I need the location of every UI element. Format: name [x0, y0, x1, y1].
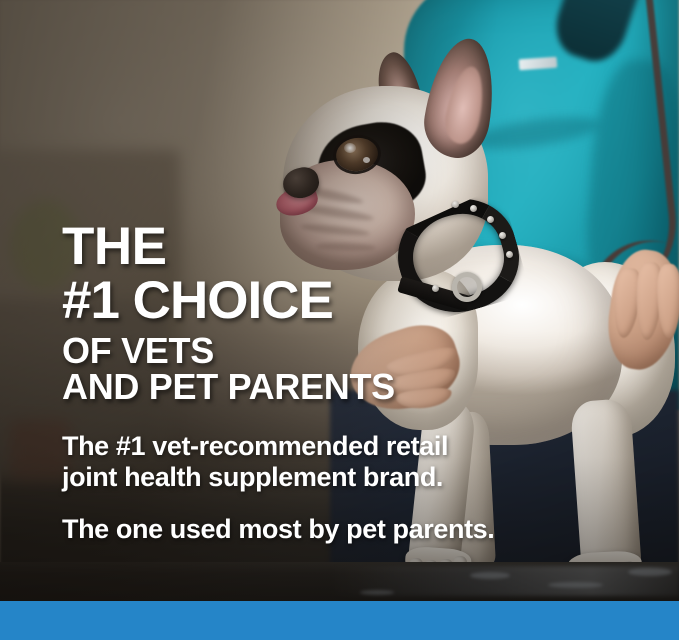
hero-photograph: THE #1 CHOICE OF VETS AND PET PARENTS Th… — [0, 0, 679, 601]
table-highlight — [360, 590, 394, 595]
headline-line-1: THE — [62, 222, 622, 273]
table-highlight — [628, 568, 672, 576]
subcopy-paragraph-2: The one used most by pet parents. — [62, 514, 622, 545]
dog-eye-highlight — [344, 143, 356, 153]
headline-line-4: AND PET PARENTS — [62, 370, 622, 405]
marketing-copy: THE #1 CHOICE OF VETS AND PET PARENTS Th… — [62, 222, 622, 545]
subcopy-line-1: The #1 vet-recommended retail — [62, 431, 622, 462]
promotional-banner: THE #1 CHOICE OF VETS AND PET PARENTS Th… — [0, 0, 679, 640]
bottom-brand-bar — [0, 601, 679, 640]
headline-line-3: OF VETS — [62, 334, 622, 369]
table-highlight — [548, 582, 603, 588]
collar-stud — [470, 205, 477, 212]
collar-stud — [452, 201, 459, 208]
dog-eye-highlight-secondary — [363, 157, 370, 163]
subcopy-line-2: joint health supplement brand. — [62, 462, 622, 493]
subcopy-line-3: The one used most by pet parents. — [62, 514, 622, 545]
table-highlight — [470, 572, 510, 579]
headline-line-2: #1 CHOICE — [62, 276, 622, 327]
subcopy-paragraph-1: The #1 vet-recommended retail joint heal… — [62, 431, 622, 493]
